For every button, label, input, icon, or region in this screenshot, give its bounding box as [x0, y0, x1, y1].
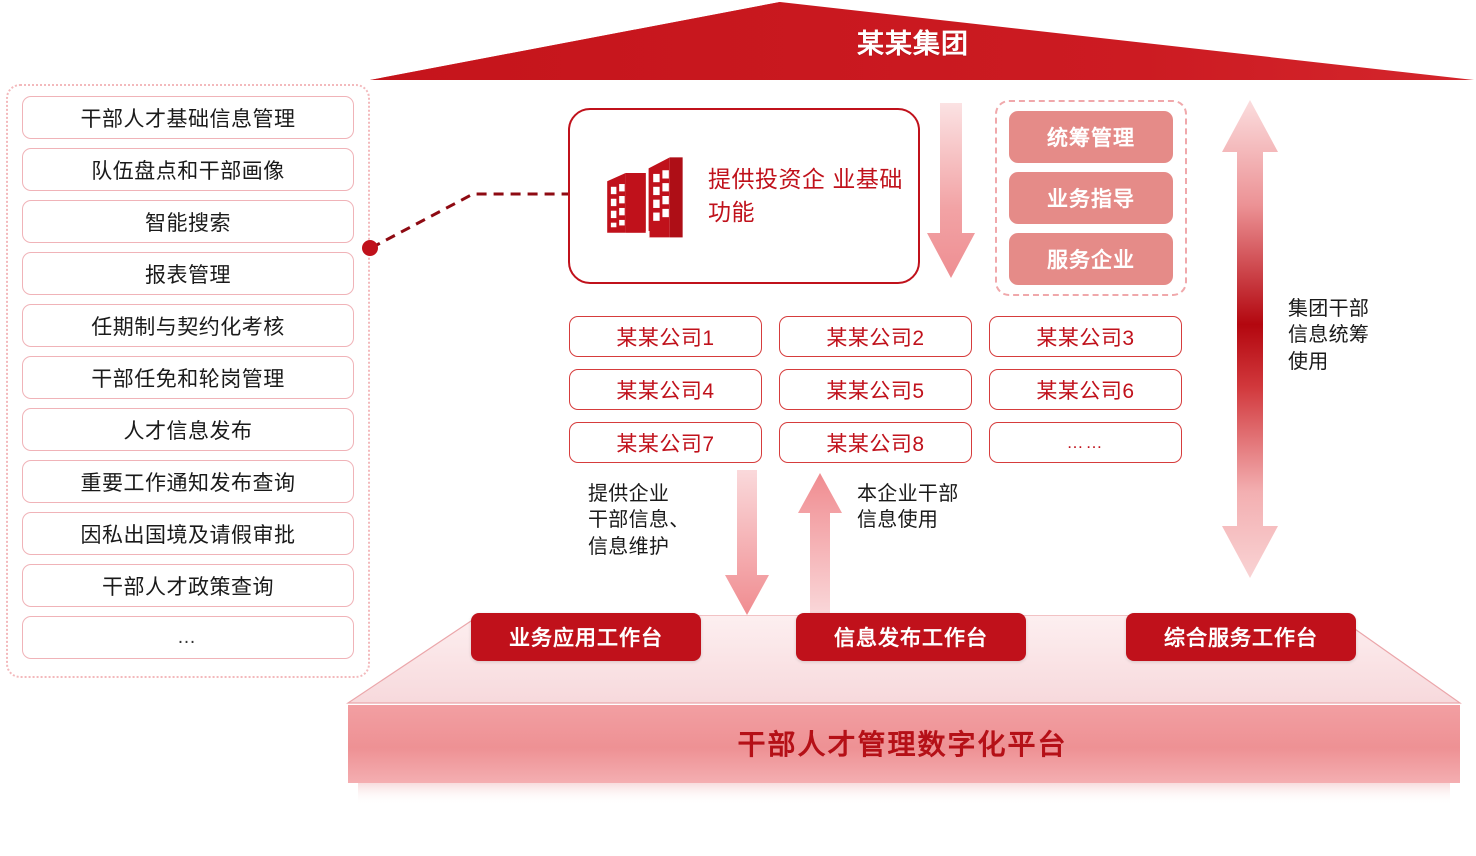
function-item[interactable]: 重要工作通知发布查询: [22, 460, 354, 503]
company-box[interactable]: 某某公司5: [779, 369, 972, 410]
company-box[interactable]: 某某公司6: [989, 369, 1182, 410]
function-item[interactable]: 智能搜索: [22, 200, 354, 243]
office-buildings-icon: [598, 150, 690, 242]
diagram-canvas: 干部人才管理数字化平台 某某集团 干部人才基础信息管理 队伍盘点和干部画像 智能…: [0, 0, 1476, 856]
function-item[interactable]: 队伍盘点和干部画像: [22, 148, 354, 191]
workbench-button-business[interactable]: 业务应用工作台: [471, 613, 701, 661]
investment-enterprise-card[interactable]: 提供投资企 业基础功能: [568, 108, 920, 284]
company-box[interactable]: 某某公司8: [779, 422, 972, 463]
function-item[interactable]: 报表管理: [22, 252, 354, 295]
function-item[interactable]: 干部人才基础信息管理: [22, 96, 354, 139]
function-item[interactable]: 人才信息发布: [22, 408, 354, 451]
function-item[interactable]: 干部人才政策查询: [22, 564, 354, 607]
function-item[interactable]: 任期制与契约化考核: [22, 304, 354, 347]
company-box[interactable]: 某某公司3: [989, 316, 1182, 357]
company-box[interactable]: 某某公司1: [569, 316, 762, 357]
function-item[interactable]: 因私出国境及请假审批: [22, 512, 354, 555]
connector-dot: [362, 240, 378, 256]
connector-dashed-line: [355, 175, 585, 270]
company-box[interactable]: 某某公司4: [569, 369, 762, 410]
function-item[interactable]: 干部任免和轮岗管理: [22, 356, 354, 399]
platform-title: 干部人才管理数字化平台: [345, 723, 1460, 763]
function-item-more[interactable]: …: [22, 616, 354, 659]
investment-enterprise-text: 提供投资企 业基础功能: [708, 163, 918, 228]
function-list-panel: 干部人才基础信息管理 队伍盘点和干部画像 智能搜索 报表管理 任期制与契约化考核…: [6, 84, 370, 678]
governance-tag[interactable]: 服务企业: [1009, 233, 1173, 285]
roof-title: 某某集团: [350, 22, 1476, 61]
workbench-button-service[interactable]: 综合服务工作台: [1126, 613, 1356, 661]
arrow-down-provide-info-icon: [724, 470, 770, 618]
arrow-up-use-info-icon: [797, 470, 843, 618]
governance-tags-panel: 统筹管理 业务指导 服务企业: [995, 100, 1187, 296]
arrow-down-to-companies-icon: [925, 103, 977, 286]
note-group-cadre-info: 集团干部 信息统筹 使用: [1288, 296, 1369, 375]
governance-tag[interactable]: 业务指导: [1009, 172, 1173, 224]
company-box[interactable]: 某某公司2: [779, 316, 972, 357]
arrow-double-group-info-icon: [1219, 100, 1281, 578]
company-box-more[interactable]: ……: [989, 422, 1182, 463]
note-provide-enterprise-info: 提供企业 干部信息、 信息维护: [588, 481, 690, 560]
workbench-button-publish[interactable]: 信息发布工作台: [796, 613, 1026, 661]
company-grid: 某某公司1 某某公司2 某某公司3 某某公司4 某某公司5 某某公司6 某某公司…: [569, 316, 1182, 464]
note-use-own-cadre-info: 本企业干部 信息使用: [857, 481, 959, 534]
company-box[interactable]: 某某公司7: [569, 422, 762, 463]
governance-tag[interactable]: 统筹管理: [1009, 111, 1173, 163]
